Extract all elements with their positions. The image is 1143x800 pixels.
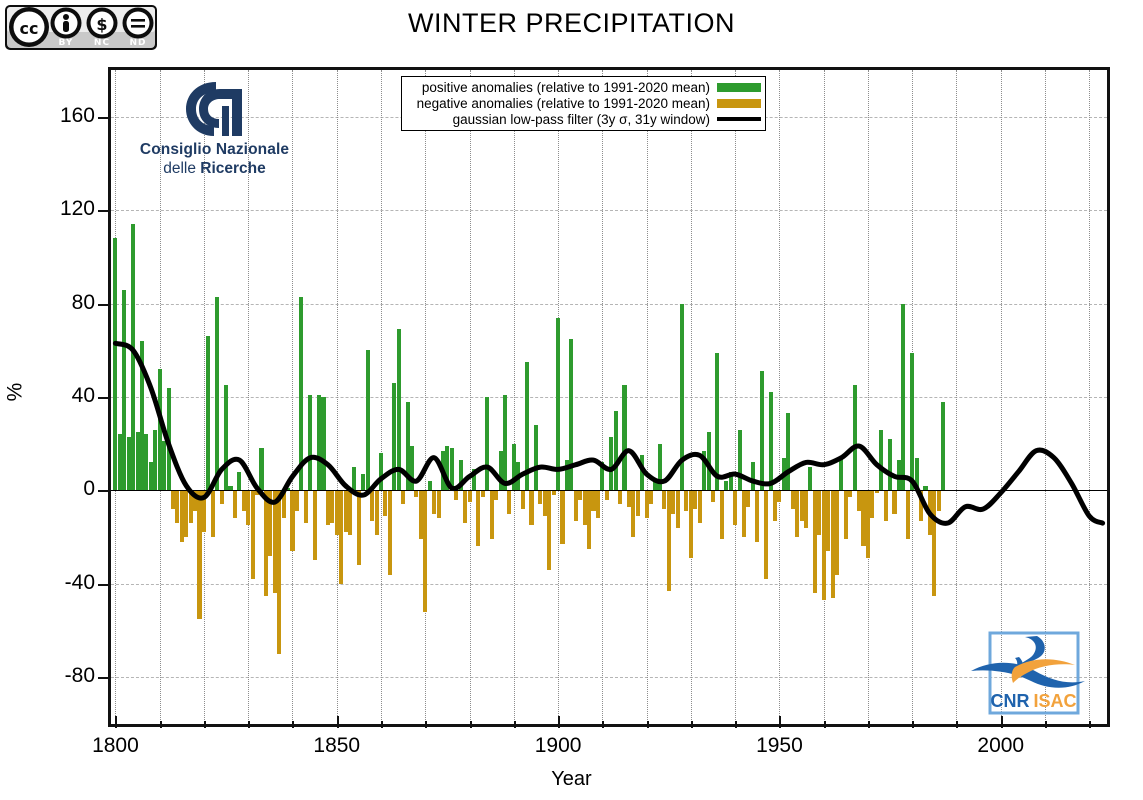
x-axis-tick-label: 1850 [282,734,392,758]
y-axis-tick-mark [98,584,110,586]
x-axis-minor-tick [824,721,826,728]
svg-text:NC: NC [94,38,110,48]
y-axis-tick-label: 120 [15,197,95,221]
svg-text:ND: ND [129,38,146,48]
x-axis-minor-tick [956,721,958,728]
svg-text:BY: BY [59,38,74,48]
legend-item-label: negative anomalies (relative to 1991-202… [417,96,710,111]
svg-text:ISAC: ISAC [1033,691,1076,711]
svg-text:CNR: CNR [991,691,1030,711]
x-axis-minor-tick [602,721,604,728]
x-axis-minor-tick [735,721,737,728]
legend-item-label: positive anomalies (relative to 1991-202… [422,80,710,95]
x-axis-minor-tick [647,721,649,728]
x-axis-minor-tick [514,721,516,728]
x-axis-tick-mark [779,716,781,728]
x-axis-tick-mark [115,716,117,728]
x-axis-minor-tick [292,721,294,728]
cnr-isac-icon: CNR ISAC [963,627,1088,719]
x-axis-tick-label: 1800 [60,734,170,758]
y-axis-tick-label: 80 [15,291,95,315]
y-axis-tick-label: 160 [15,104,95,128]
legend: positive anomalies (relative to 1991-202… [401,76,766,131]
x-axis-tick-mark [337,716,339,728]
y-axis-tick-mark [98,490,110,492]
x-axis-minor-tick [425,721,427,728]
page-title: WINTER PRECIPITATION [0,8,1143,39]
legend-line-swatch [717,117,761,121]
legend-color-swatch [717,83,761,92]
y-axis-tick-label: -40 [15,571,95,595]
cnr-logo-line1: Consiglio Nazionale [112,141,317,159]
y-axis-tick-mark [98,117,110,119]
y-axis-tick-label: 0 [15,477,95,501]
y-axis-tick-mark [98,397,110,399]
cnr-logo: Consiglio Nazionale delle Ricerche [112,78,317,190]
y-axis-tick-label: -80 [15,664,95,688]
cnr-logo-line2-light: delle [163,160,200,177]
x-axis-minor-tick [381,721,383,728]
x-axis-label: Year [0,768,1143,791]
x-axis-minor-tick [160,721,162,728]
legend-item: positive anomalies (relative to 1991-202… [406,79,761,95]
x-axis-minor-tick [868,721,870,728]
x-axis-minor-tick [204,721,206,728]
x-axis-minor-tick [912,721,914,728]
x-axis-minor-tick [691,721,693,728]
x-axis-tick-label: 1950 [724,734,834,758]
legend-item: negative anomalies (relative to 1991-202… [406,95,761,111]
cnr-logo-line2-bold: Ricerche [200,160,265,177]
x-axis-tick-mark [558,716,560,728]
filter-line-path [115,343,1102,523]
y-axis-tick-mark [98,304,110,306]
y-axis-tick-label: 40 [15,384,95,408]
x-axis-tick-label: 2000 [946,734,1056,758]
x-axis-minor-tick [470,721,472,728]
x-axis-minor-tick [1045,721,1047,728]
y-axis-tick-mark [98,677,110,679]
x-axis-minor-tick [1089,721,1091,728]
cnr-spiral-icon [178,78,252,140]
legend-color-swatch [717,99,761,108]
chart-page: cc $ BY NC ND WINTER PRECIPITATION % [0,0,1143,800]
y-axis-tick-mark [98,210,110,212]
cnr-logo-line2: delle Ricerche [112,160,317,178]
cnr-isac-logo: CNR ISAC [963,627,1088,719]
legend-item: gaussian low-pass filter (3y σ, 31y wind… [406,111,761,127]
legend-item-label: gaussian low-pass filter (3y σ, 31y wind… [453,112,710,127]
x-axis-tick-label: 1900 [503,734,613,758]
x-axis-minor-tick [248,721,250,728]
